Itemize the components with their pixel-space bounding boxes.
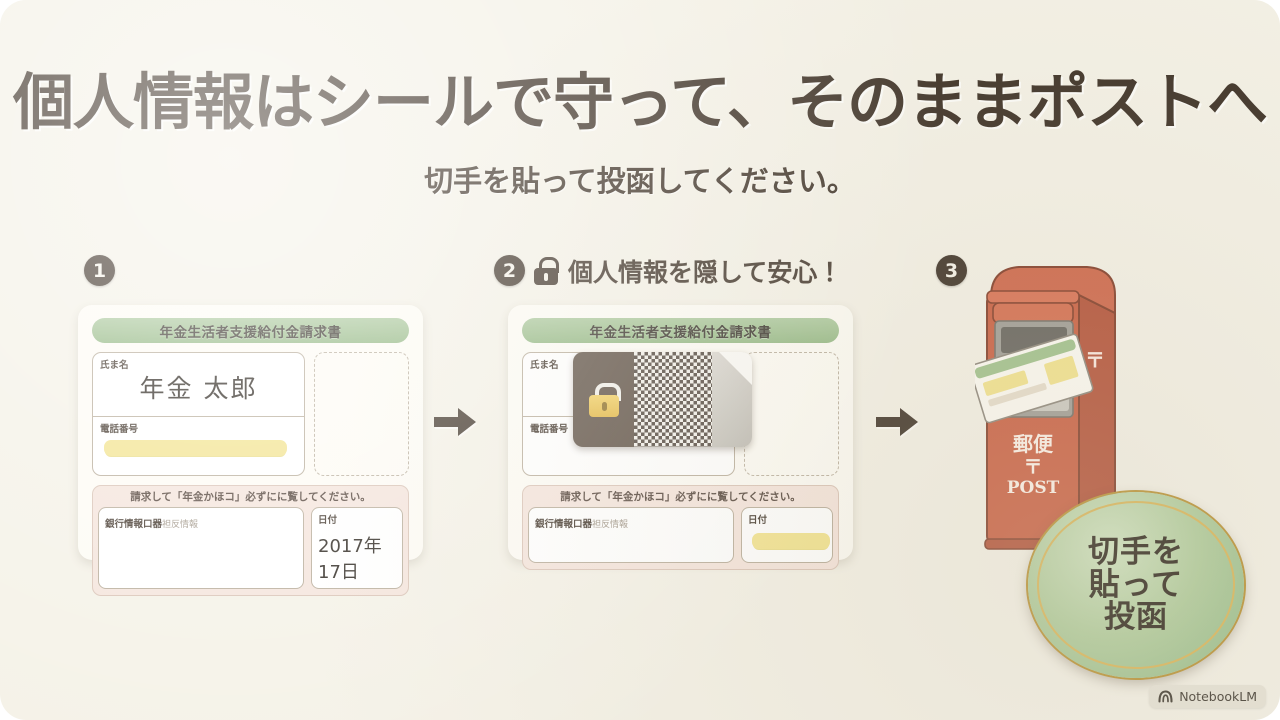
arrow-right-icon-1 — [432, 405, 478, 439]
bank-sublabel: 袒反情報 — [162, 520, 198, 530]
page-title: 個人情報はシールで守って、そのままポストへ — [0, 52, 1280, 141]
date-field-step1[interactable]: 日付 2017年17日 — [311, 507, 403, 589]
form-fields-step1: 氏ま名 年金 太郎 電話番号 — [92, 352, 305, 476]
badge-line-2: 貼って — [1089, 569, 1183, 602]
arrow-right-icon-2 — [874, 405, 920, 439]
photo-box-step1[interactable] — [314, 352, 409, 476]
postbox-side-emblem: 〒 — [1085, 348, 1105, 372]
bank-field-step2[interactable]: 銀行情報口器袒反情報 — [528, 507, 734, 563]
padlock-icon — [589, 383, 619, 417]
name-value: 年金 太郎 — [100, 369, 297, 405]
phone-field[interactable]: 電話番号 — [93, 416, 304, 475]
form-header-step2: 年金生活者支援給付金請求書 — [522, 318, 839, 343]
phone-label: 電話番号 — [100, 421, 297, 435]
form-header-step1: 年金生活者支援給付金請求書 — [92, 318, 409, 343]
photo-box-step2[interactable] — [744, 352, 839, 476]
notebooklm-watermark: NotebookLM — [1149, 685, 1266, 708]
notice-text-step2: 請求して「年金かほコ」必ずにに覧してください。 — [523, 486, 838, 507]
step-3-number: 3 — [936, 255, 967, 286]
seal-mesh-panel — [634, 352, 712, 447]
date-label: 日付 — [318, 512, 396, 526]
date-value: 2017年17日 — [318, 532, 396, 584]
notice-block-step1: 請求して「年金かほコ」必ずにに覧してください。 銀行情報口器袒反情報 日付 20… — [92, 485, 409, 596]
date-label-step2: 日付 — [748, 512, 826, 526]
watermark-label: NotebookLM — [1179, 689, 1257, 704]
bank-label: 銀行情報口器 — [105, 519, 162, 530]
postbox-kanji-label: 郵便 — [1013, 432, 1054, 456]
poster-canvas: 個人情報はシールで守って、そのままポストへ 切手を貼って投函してください。 1 … — [0, 0, 1280, 720]
bank-sublabel-step2: 袒反情報 — [592, 520, 628, 530]
step-2-caption: 個人情報を隠して安心！ — [533, 255, 842, 286]
date-field-step2[interactable]: 日付 — [741, 507, 833, 563]
stamp-badge: 切手を 貼って 投函 — [1028, 492, 1244, 678]
date-highlight-step2 — [752, 533, 830, 549]
step-1-number: 1 — [84, 255, 115, 286]
badge-line-3: 投函 — [1104, 601, 1168, 634]
step-2-label: 個人情報を隠して安心！ — [568, 253, 842, 289]
step-2-number: 2 — [494, 255, 525, 286]
phone-highlight — [104, 440, 287, 456]
notebooklm-logo-icon — [1158, 690, 1173, 703]
postbox-roman-label: POST — [1007, 478, 1060, 498]
seal-dark-panel — [573, 352, 634, 447]
postbox-mark-label: 〒 — [1023, 456, 1042, 478]
privacy-seal-sticker[interactable] — [573, 352, 752, 447]
lock-icon — [533, 257, 559, 285]
name-field[interactable]: 氏ま名 年金 太郎 — [93, 353, 304, 416]
notice-text-step1: 請求して「年金かほコ」必ずにに覧してください。 — [93, 486, 408, 507]
notice-block-step2: 請求して「年金かほコ」必ずにに覧してください。 銀行情報口器袒反情報 日付 — [522, 485, 839, 570]
form-card-step1: 年金生活者支援給付金請求書 氏ま名 年金 太郎 電話番号 請求して「年金かほコ」… — [78, 305, 423, 560]
bank-field-step1[interactable]: 銀行情報口器袒反情報 — [98, 507, 304, 589]
badge-line-1: 切手を — [1088, 536, 1184, 569]
seal-peel-corner — [712, 352, 752, 447]
bank-label-step2: 銀行情報口器 — [535, 519, 592, 530]
page-subtitle: 切手を貼って投函してください。 — [0, 158, 1280, 200]
